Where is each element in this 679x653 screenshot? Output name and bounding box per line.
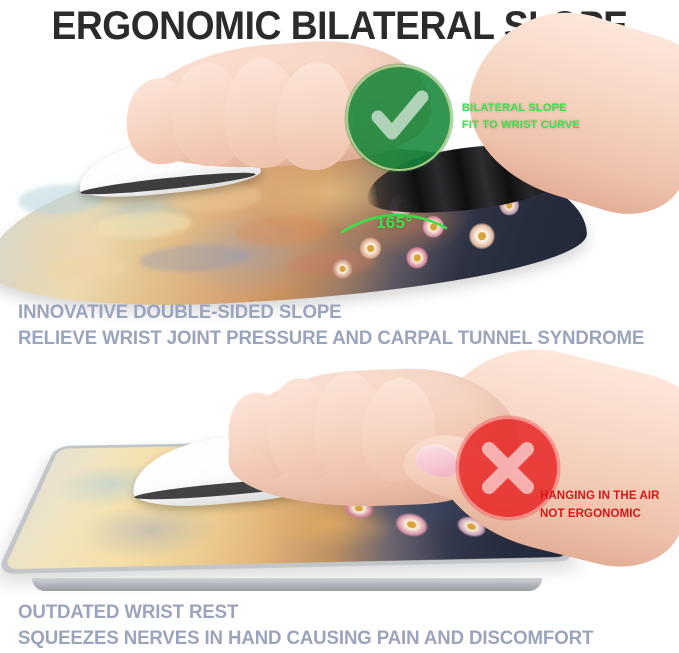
caption-outdated-problem: OUTDATED WRIST REST SQUEEZES NERVES IN H… [18, 600, 668, 651]
caption-line-2: SQUEEZES NERVES IN HAND CAUSING PAIN AND… [18, 626, 639, 652]
caption-line-2: RELIEVE WRIST JOINT PRESSURE AND CARPAL … [18, 326, 639, 352]
floral-motif-icon [422, 215, 445, 238]
not-ergonomic-annotation: HANGING IN THE AIR NOT ERGONOMIC [540, 487, 660, 523]
floral-motif-icon [393, 513, 431, 537]
floral-motif-icon [359, 237, 382, 260]
annotation-line-1: BILATERAL SLOPE [462, 100, 580, 117]
slope-angle-label: 165° [376, 213, 412, 233]
caption-line-1: INNOVATIVE DOUBLE-SIDED SLOPE [18, 300, 639, 326]
floral-motif-icon [405, 246, 428, 269]
caption-line-1: OUTDATED WRIST REST [18, 600, 639, 626]
check-circle-icon [346, 65, 452, 171]
floral-motif-icon [332, 258, 353, 279]
bilateral-slope-annotation: BILATERAL SLOPE FIT TO WRIST CURVE [462, 100, 580, 134]
annotation-line-2: NOT ERGONOMIC [540, 505, 660, 523]
floral-motif-icon [468, 222, 495, 249]
annotation-line-1: HANGING IN THE AIR [540, 487, 660, 505]
flat-pad-edge [32, 578, 542, 591]
annotation-line-2: FIT TO WRIST CURVE [462, 117, 580, 134]
caption-ergonomic-benefit: INNOVATIVE DOUBLE-SIDED SLOPE RELIEVE WR… [18, 300, 668, 351]
